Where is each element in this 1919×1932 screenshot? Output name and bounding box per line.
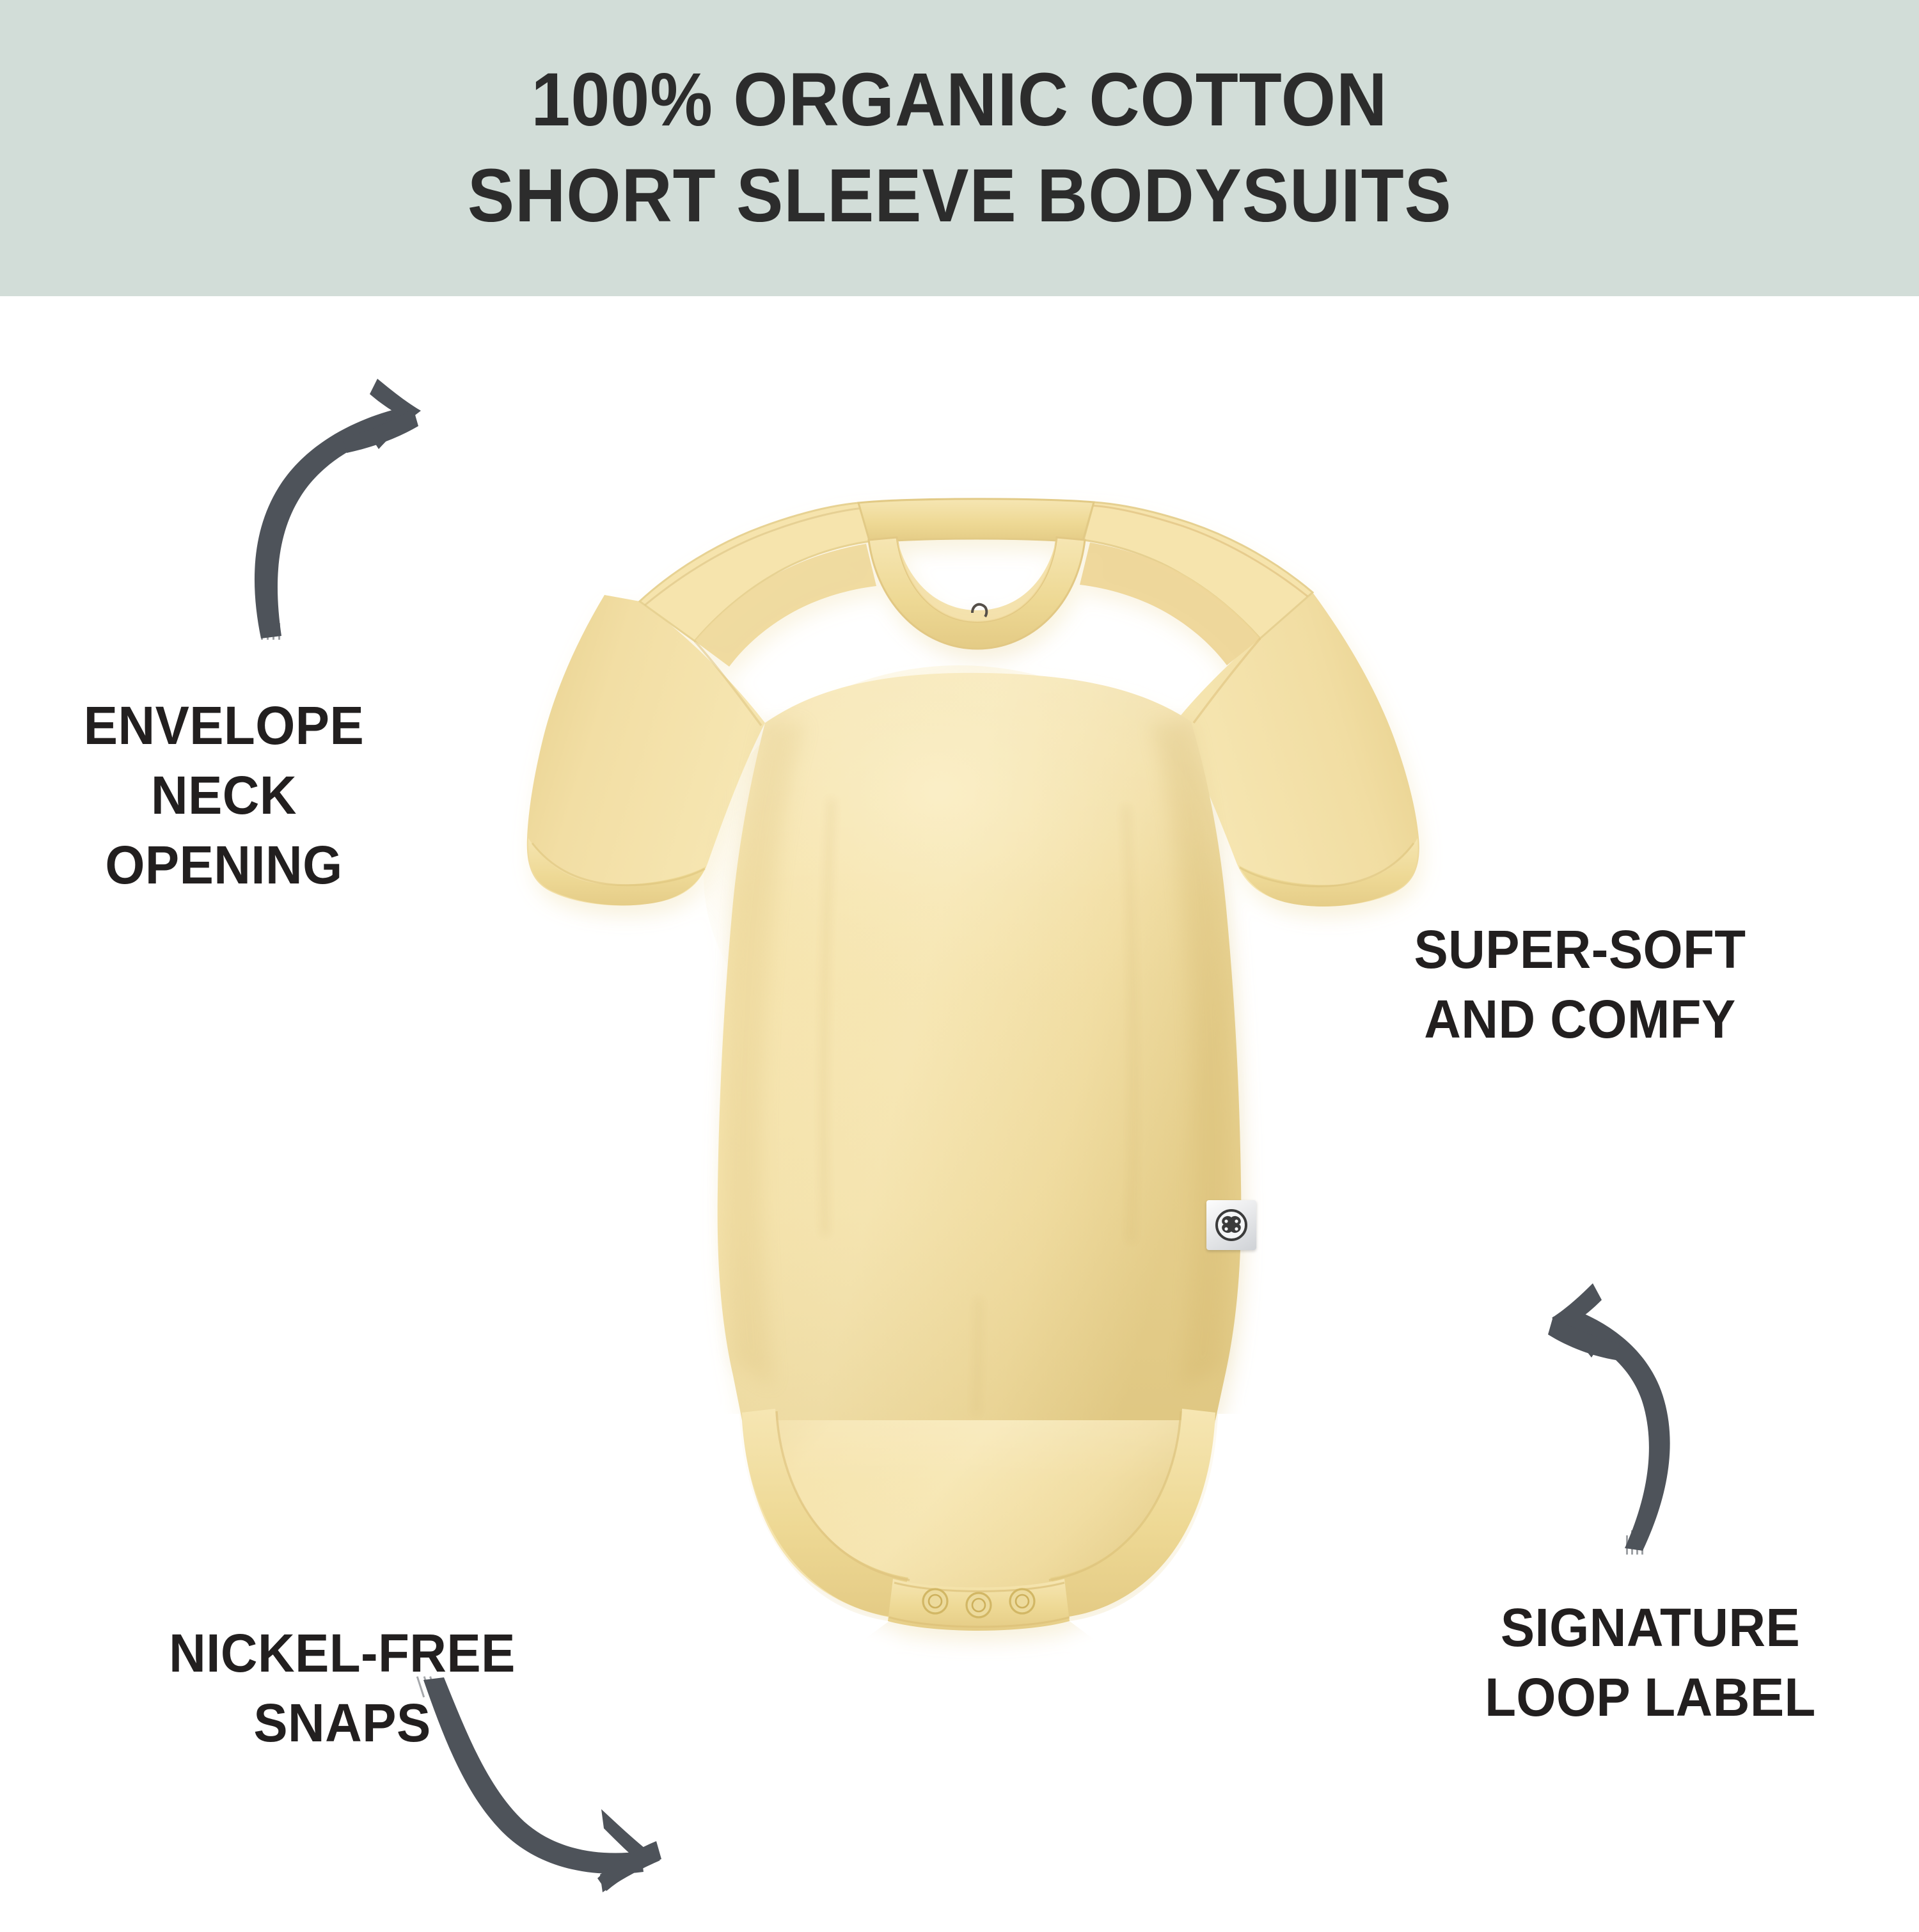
annotation-nickel-free-snaps: NICKEL-FREE SNAPS bbox=[132, 1619, 552, 1758]
annotation-line: ENVELOPE bbox=[54, 691, 394, 761]
annotation-signature-loop-label: SIGNATURE LOOP LABEL bbox=[1419, 1593, 1881, 1732]
header-band: 100% ORGANIC COTTON SHORT SLEEVE BODYSUI… bbox=[0, 0, 1919, 296]
snap-3 bbox=[1010, 1589, 1034, 1613]
neck-rib-binding bbox=[858, 499, 1094, 542]
annotation-line: OPENING bbox=[54, 830, 394, 900]
annotation-super-soft-and-comfy: SUPER-SOFT AND COMFY bbox=[1349, 915, 1811, 1054]
annotation-line: SNAPS bbox=[132, 1688, 552, 1758]
signature-loop-label-tag bbox=[1206, 1200, 1256, 1250]
butterfly-icon bbox=[1212, 1206, 1251, 1244]
annotation-line: NICKEL-FREE bbox=[132, 1619, 552, 1688]
annotation-line: NECK bbox=[54, 761, 394, 830]
snap-1 bbox=[923, 1589, 947, 1613]
annotation-line: SIGNATURE bbox=[1419, 1593, 1881, 1663]
annotation-line: SUPER-SOFT bbox=[1349, 915, 1811, 985]
signature-loop-label-arrow-icon bbox=[1490, 1279, 1733, 1555]
annotation-envelope-neck-opening: ENVELOPE NECK OPENING bbox=[54, 691, 394, 901]
envelope-neck-arrow-icon bbox=[186, 371, 454, 640]
snap-group bbox=[923, 1589, 1034, 1617]
annotation-line: AND COMFY bbox=[1349, 985, 1811, 1054]
header-title-line-1: 100% ORGANIC COTTON bbox=[532, 52, 1388, 148]
snap-2 bbox=[967, 1593, 991, 1617]
garment-body bbox=[527, 499, 1419, 1663]
annotation-line: LOOP LABEL bbox=[1419, 1663, 1881, 1732]
header-title-line-2: SHORT SLEEVE BODYSUITS bbox=[468, 148, 1452, 244]
